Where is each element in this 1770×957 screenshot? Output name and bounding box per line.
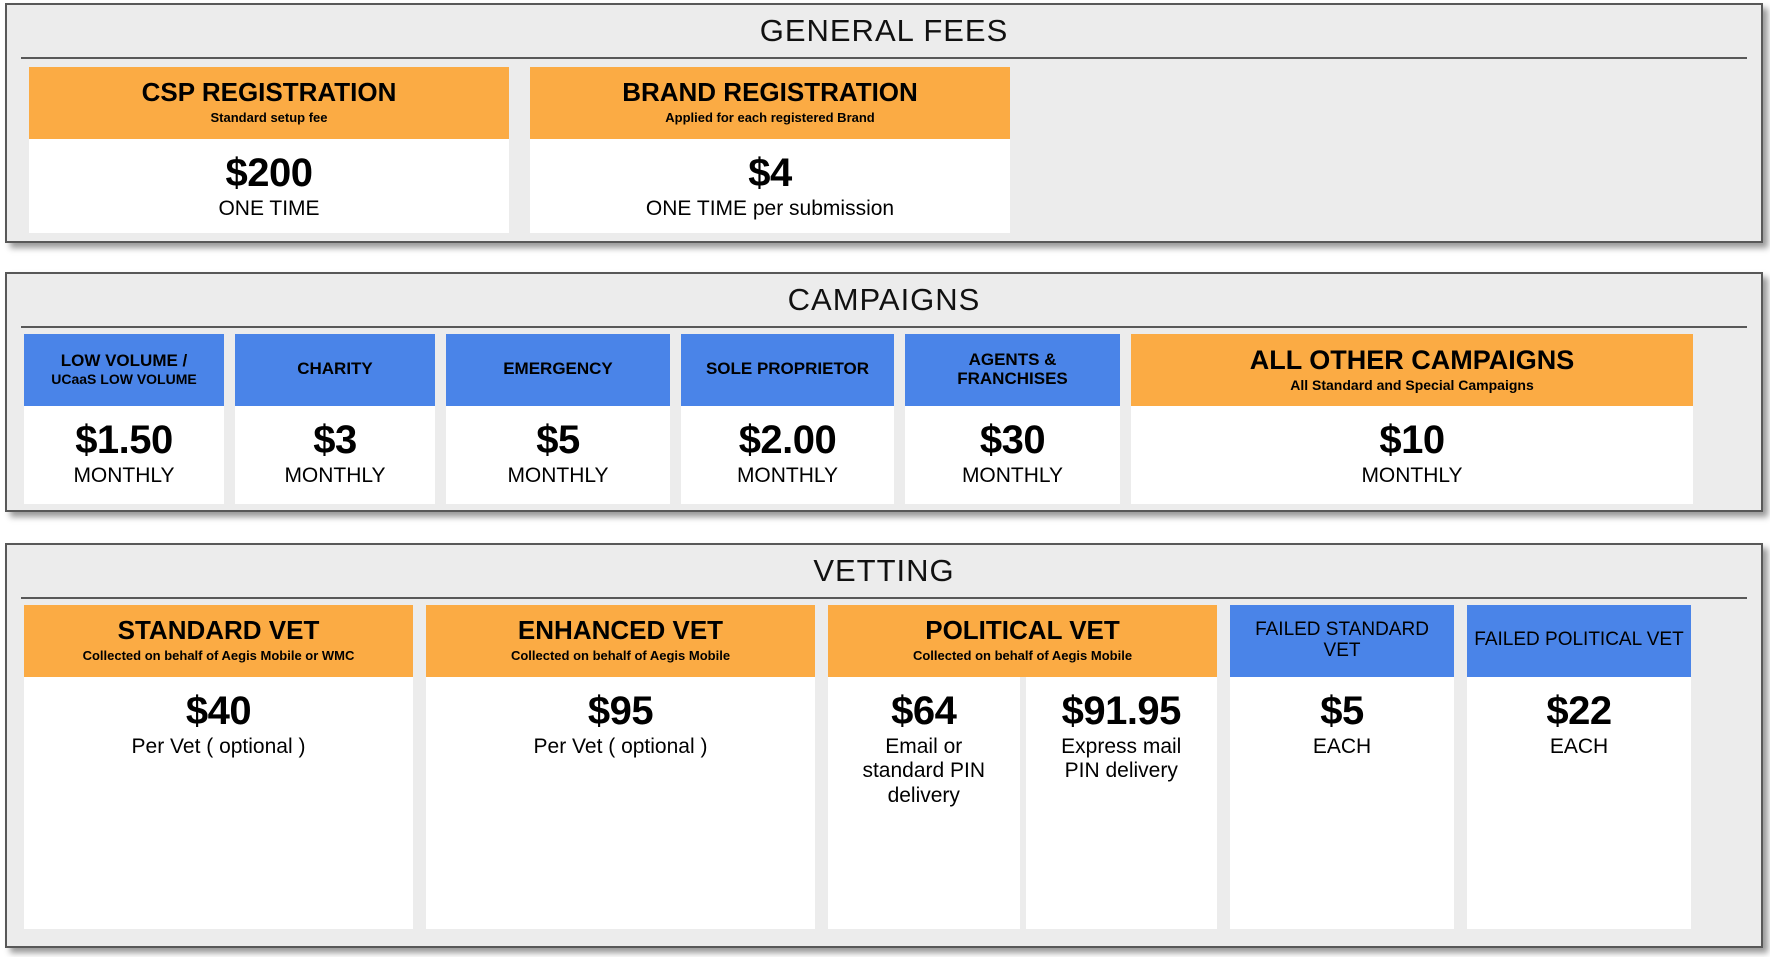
card-header-agents-franchises: AGENTS & FRANCHISES — [905, 334, 1120, 406]
panel-title-campaigns: CAMPAIGNS — [7, 274, 1761, 322]
card-row-campaigns: LOW VOLUME / UCaaS LOW VOLUME $1.50 MONT… — [24, 334, 1761, 504]
card-subtitle: All Standard and Special Campaigns — [1290, 377, 1534, 393]
card-price: $4 — [748, 153, 792, 195]
panel-campaigns: CAMPAIGNS LOW VOLUME / UCaaS LOW VOLUME … — [5, 272, 1763, 512]
card-title: ALL OTHER CAMPAIGNS — [1250, 345, 1575, 375]
card-header-failed-political-vet: FAILED POLITICAL VET — [1467, 605, 1691, 677]
card-price: $64 — [891, 691, 956, 733]
card-failed-political-vet[interactable]: FAILED POLITICAL VET $22 EACH — [1467, 605, 1691, 929]
card-unit: ONE TIME per submission — [646, 197, 894, 222]
card-body-failed-political-vet: $22 EACH — [1467, 677, 1691, 929]
card-standard-vet[interactable]: STANDARD VET Collected on behalf of Aegi… — [24, 605, 413, 929]
panel-title-general-fees: GENERAL FEES — [7, 5, 1761, 53]
card-title: ENHANCED VET — [518, 616, 723, 645]
panel-vetting: VETTING STANDARD VET Collected on behalf… — [5, 543, 1763, 948]
card-subtitle: Applied for each registered Brand — [665, 111, 875, 126]
card-price: $91.95 — [1062, 691, 1181, 733]
card-unit: MONTHLY — [962, 464, 1063, 489]
card-header-failed-standard-vet: FAILED STANDARD VET — [1230, 605, 1454, 677]
card-title: LOW VOLUME / — [61, 351, 188, 370]
card-unit: Express mail PIN delivery — [1049, 735, 1194, 785]
card-title: CSP REGISTRATION — [142, 78, 397, 107]
card-unit: Email or standard PIN delivery — [851, 735, 996, 809]
card-price: $40 — [186, 691, 251, 733]
panel-divider — [21, 326, 1747, 328]
card-body-low-volume: $1.50 MONTHLY — [24, 406, 224, 504]
card-enhanced-vet[interactable]: ENHANCED VET Collected on behalf of Aegi… — [426, 605, 815, 929]
card-title: POLITICAL VET — [925, 616, 1120, 645]
card-brand-registration[interactable]: BRAND REGISTRATION Applied for each regi… — [530, 67, 1010, 233]
card-header-political-vet: POLITICAL VET Collected on behalf of Aeg… — [828, 605, 1217, 677]
card-body-brand-registration: $4 ONE TIME per submission — [530, 139, 1010, 233]
card-unit: MONTHLY — [737, 464, 838, 489]
card-subtitle: UCaaS LOW VOLUME — [51, 371, 196, 387]
card-price: $30 — [980, 420, 1045, 462]
card-title: BRAND REGISTRATION — [622, 78, 918, 107]
card-unit: MONTHLY — [1361, 464, 1462, 489]
card-title: FAILED POLITICAL VET — [1474, 629, 1683, 650]
card-unit: Per Vet ( optional ) — [534, 735, 708, 760]
card-subtitle: Collected on behalf of Aegis Mobile — [913, 649, 1132, 664]
card-body-agents-franchises: $30 MONTHLY — [905, 406, 1120, 504]
card-body-political-vet: $64 Email or standard PIN delivery $91.9… — [828, 677, 1217, 929]
card-body-enhanced-vet: $95 Per Vet ( optional ) — [426, 677, 815, 929]
card-political-vet[interactable]: POLITICAL VET Collected on behalf of Aeg… — [828, 605, 1217, 929]
card-unit: MONTHLY — [73, 464, 174, 489]
pricing-sheet: GENERAL FEES CSP REGISTRATION Standard s… — [0, 0, 1770, 957]
card-header-all-other-campaigns: ALL OTHER CAMPAIGNS All Standard and Spe… — [1131, 334, 1693, 406]
card-header-csp-registration: CSP REGISTRATION Standard setup fee — [29, 67, 509, 139]
card-price: $5 — [1320, 691, 1364, 733]
card-unit: MONTHLY — [507, 464, 608, 489]
card-subtitle: Collected on behalf of Aegis Mobile — [511, 649, 730, 664]
panel-divider — [21, 597, 1747, 599]
card-emergency[interactable]: EMERGENCY $5 MONTHLY — [446, 334, 670, 504]
card-body-charity: $3 MONTHLY — [235, 406, 435, 504]
card-title: STANDARD VET — [118, 616, 320, 645]
card-row-general-fees: CSP REGISTRATION Standard setup fee $200… — [29, 67, 1761, 233]
card-price: $2.00 — [739, 420, 837, 462]
card-title: CHARITY — [297, 359, 373, 378]
political-vet-option-email: $64 Email or standard PIN delivery — [828, 677, 1020, 929]
card-price: $95 — [588, 691, 653, 733]
card-unit: EACH — [1313, 735, 1371, 760]
card-header-brand-registration: BRAND REGISTRATION Applied for each regi… — [530, 67, 1010, 139]
card-all-other-campaigns[interactable]: ALL OTHER CAMPAIGNS All Standard and Spe… — [1131, 334, 1693, 504]
panel-title-vetting: VETTING — [7, 545, 1761, 593]
political-vet-option-express: $91.95 Express mail PIN delivery — [1026, 677, 1218, 929]
panel-general-fees: GENERAL FEES CSP REGISTRATION Standard s… — [5, 3, 1763, 243]
card-subtitle: Standard setup fee — [210, 111, 327, 126]
card-body-all-other-campaigns: $10 MONTHLY — [1131, 406, 1693, 504]
card-price: $10 — [1379, 420, 1444, 462]
card-price: $200 — [226, 153, 313, 195]
card-sole-proprietor[interactable]: SOLE PROPRIETOR $2.00 MONTHLY — [681, 334, 894, 504]
card-price: $22 — [1546, 691, 1611, 733]
card-title: SOLE PROPRIETOR — [706, 359, 869, 378]
card-title: AGENTS & FRANCHISES — [911, 350, 1114, 388]
card-row-vetting: STANDARD VET Collected on behalf of Aegi… — [24, 605, 1761, 929]
card-header-sole-proprietor: SOLE PROPRIETOR — [681, 334, 894, 406]
card-subtitle: Collected on behalf of Aegis Mobile or W… — [83, 649, 355, 664]
card-body-failed-standard-vet: $5 EACH — [1230, 677, 1454, 929]
card-body-emergency: $5 MONTHLY — [446, 406, 670, 504]
card-unit: ONE TIME — [218, 197, 319, 222]
card-charity[interactable]: CHARITY $3 MONTHLY — [235, 334, 435, 504]
panel-divider — [21, 57, 1747, 59]
card-header-emergency: EMERGENCY — [446, 334, 670, 406]
card-price: $5 — [536, 420, 580, 462]
card-unit: Per Vet ( optional ) — [132, 735, 306, 760]
card-body-standard-vet: $40 Per Vet ( optional ) — [24, 677, 413, 929]
card-body-sole-proprietor: $2.00 MONTHLY — [681, 406, 894, 504]
card-unit: EACH — [1550, 735, 1608, 760]
card-failed-standard-vet[interactable]: FAILED STANDARD VET $5 EACH — [1230, 605, 1454, 929]
card-csp-registration[interactable]: CSP REGISTRATION Standard setup fee $200… — [29, 67, 509, 233]
card-header-standard-vet: STANDARD VET Collected on behalf of Aegi… — [24, 605, 413, 677]
card-low-volume[interactable]: LOW VOLUME / UCaaS LOW VOLUME $1.50 MONT… — [24, 334, 224, 504]
card-agents-franchises[interactable]: AGENTS & FRANCHISES $30 MONTHLY — [905, 334, 1120, 504]
card-header-low-volume: LOW VOLUME / UCaaS LOW VOLUME — [24, 334, 224, 406]
card-header-enhanced-vet: ENHANCED VET Collected on behalf of Aegi… — [426, 605, 815, 677]
card-body-csp-registration: $200 ONE TIME — [29, 139, 509, 233]
card-title: EMERGENCY — [503, 359, 613, 378]
card-unit: MONTHLY — [284, 464, 385, 489]
card-price: $3 — [313, 420, 357, 462]
card-title: FAILED STANDARD VET — [1236, 619, 1448, 662]
card-price: $1.50 — [75, 420, 173, 462]
card-header-charity: CHARITY — [235, 334, 435, 406]
